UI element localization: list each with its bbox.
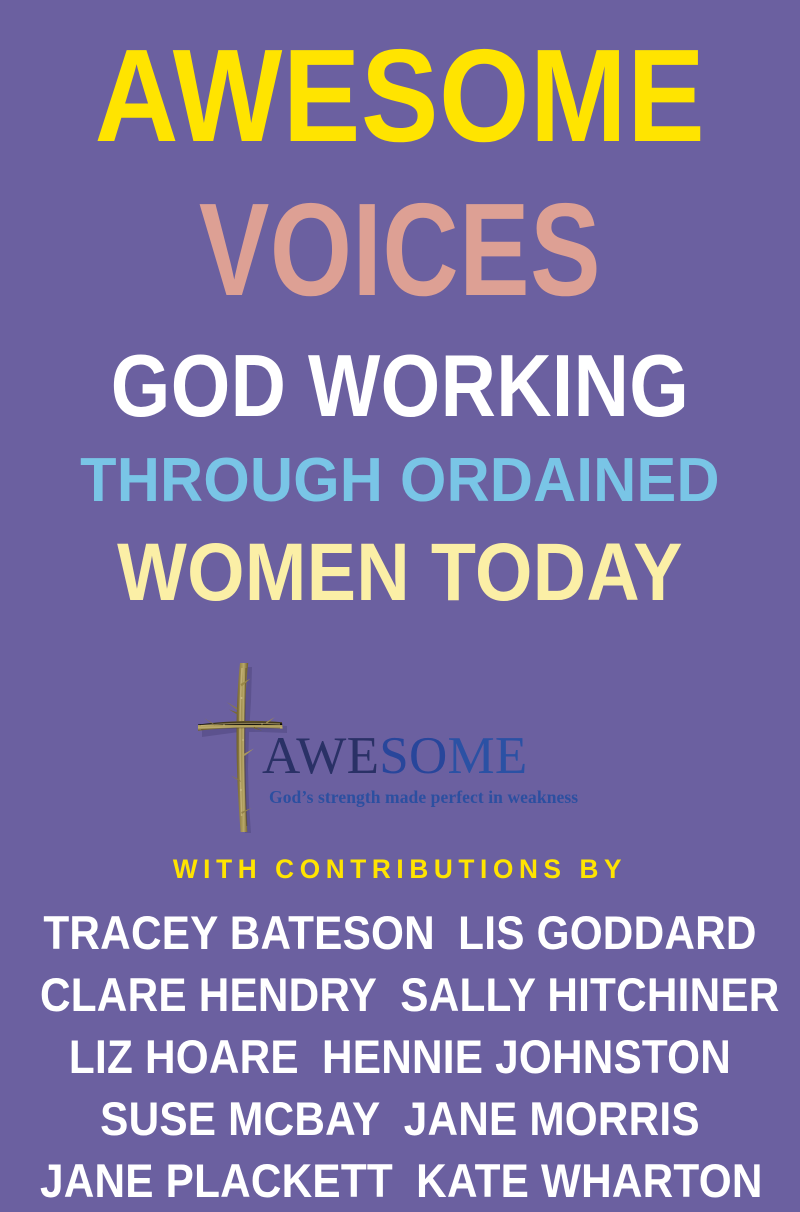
- contributor-name: SALLY HITCHINER: [400, 968, 779, 1021]
- contributor-name: KATE WHARTON: [416, 1154, 762, 1207]
- contributors-heading: WITH CONTRIBUTIONS BY: [12, 856, 788, 883]
- contributor-name: SUSE MCBAY: [100, 1092, 380, 1145]
- contributor-row: SUSE MCBAYJANE MORRIS: [40, 1095, 760, 1142]
- awesome-logo: AWESOME God’s strength made perfect in w…: [0, 660, 800, 840]
- subtitle-line-god-working: GOD WORKING: [52, 342, 748, 430]
- contributor-name: CLARE HENDRY: [40, 968, 377, 1021]
- contributors-block: WITH CONTRIBUTIONS BY TRACEY BATESONLIS …: [0, 856, 800, 1212]
- contributor-name: HENNIE JOHNSTON: [322, 1030, 731, 1083]
- subtitle-line-through-ordained: THROUGH ORDAINED: [16, 450, 784, 512]
- contributor-row: LIZ HOAREHENNIE JOHNSTON: [40, 1033, 760, 1080]
- book-title-block: AWESOME VOICES GOD WORKING THROUGH ORDAI…: [0, 30, 800, 614]
- contributor-row: CLARE HENDRYSALLY HITCHINER: [40, 971, 760, 1018]
- wordmark-segment-awe: AWE: [262, 727, 379, 785]
- awesome-logo-text: AWESOME God’s strength made perfect in w…: [262, 730, 602, 808]
- contributor-name: TRACEY BATESON: [43, 906, 435, 959]
- wordmark-segment-me: ME: [448, 727, 528, 785]
- title-line-voices: VOICES: [80, 184, 720, 316]
- wordmark-segment-so: SO: [379, 727, 447, 785]
- awesome-wordmark: AWESOME: [262, 730, 602, 783]
- contributor-name: JANE MORRIS: [404, 1092, 700, 1145]
- contributor-row: TRACEY BATESONLIS GODDARD: [40, 909, 760, 956]
- book-cover: AWESOME VOICES GOD WORKING THROUGH ORDAI…: [0, 0, 800, 1212]
- logo-tagline: God’s strength made perfect in weakness: [269, 787, 602, 808]
- subtitle-line-women-today: WOMEN TODAY: [40, 532, 760, 614]
- contributor-name: JANE PLACKETT: [40, 1154, 393, 1207]
- contributor-name: LIS GODDARD: [458, 906, 756, 959]
- contributor-name: LIZ HOARE: [69, 1030, 299, 1083]
- title-line-awesome: AWESOME: [48, 30, 752, 162]
- contributor-row: JANE PLACKETTKATE WHARTON: [40, 1157, 760, 1204]
